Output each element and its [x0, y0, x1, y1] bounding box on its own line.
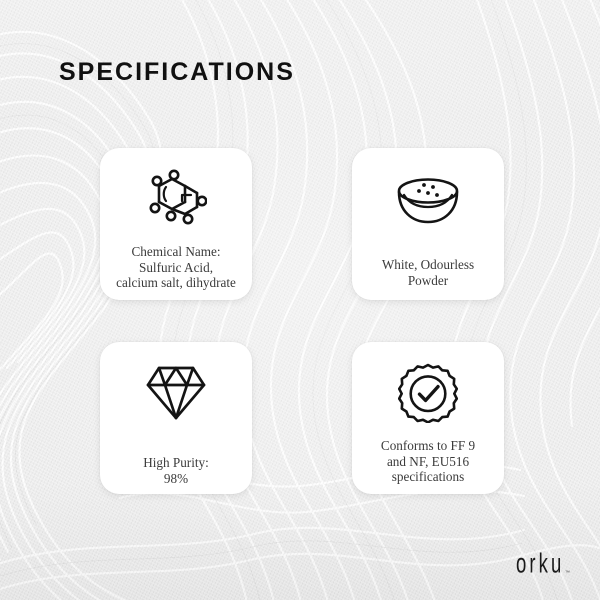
caption-line: Chemical Name: [103, 244, 249, 260]
spec-card-caption: Conforms to FF 9 and NF, EU516 specifica… [352, 438, 504, 485]
powder-bowl-icon [395, 162, 461, 236]
spec-card-caption: Chemical Name: Sulfuric Acid, calcium sa… [100, 244, 252, 291]
spec-card-caption: White, Odourless Powder [352, 257, 504, 288]
caption-line: 98% [103, 471, 249, 487]
specifications-page: SPECIFICATIONS [0, 0, 600, 600]
spec-card-caption: High Purity: 98% [100, 455, 252, 486]
brand-logo[interactable]: orku ™ [499, 553, 570, 578]
spec-card-purity[interactable]: High Purity: 98% [100, 342, 252, 494]
spec-card-conformance[interactable]: Conforms to FF 9 and NF, EU516 specifica… [352, 342, 504, 494]
brand-wordmark: orku [516, 550, 564, 578]
page-content: SPECIFICATIONS [0, 0, 600, 600]
caption-line: Powder [355, 273, 501, 289]
spec-card-appearance[interactable]: White, Odourless Powder [352, 148, 504, 300]
page-title: SPECIFICATIONS [59, 58, 295, 87]
caption-line: High Purity: [103, 455, 249, 471]
caption-line: Conforms to FF 9 [355, 438, 501, 454]
diamond-icon [146, 356, 206, 430]
molecule-icon [145, 162, 207, 236]
trademark-symbol: ™ [565, 570, 570, 576]
specification-card-grid: Chemical Name: Sulfuric Acid, calcium sa… [100, 148, 504, 494]
caption-line: Sulfuric Acid, [103, 260, 249, 276]
caption-line: specifications [355, 469, 501, 485]
spec-card-chemical-name[interactable]: Chemical Name: Sulfuric Acid, calcium sa… [100, 148, 252, 300]
caption-line: calcium salt, dihydrate [103, 275, 249, 291]
caption-line: White, Odourless [355, 257, 501, 273]
caption-line: and NF, EU516 [355, 454, 501, 470]
certified-badge-icon [398, 356, 458, 430]
